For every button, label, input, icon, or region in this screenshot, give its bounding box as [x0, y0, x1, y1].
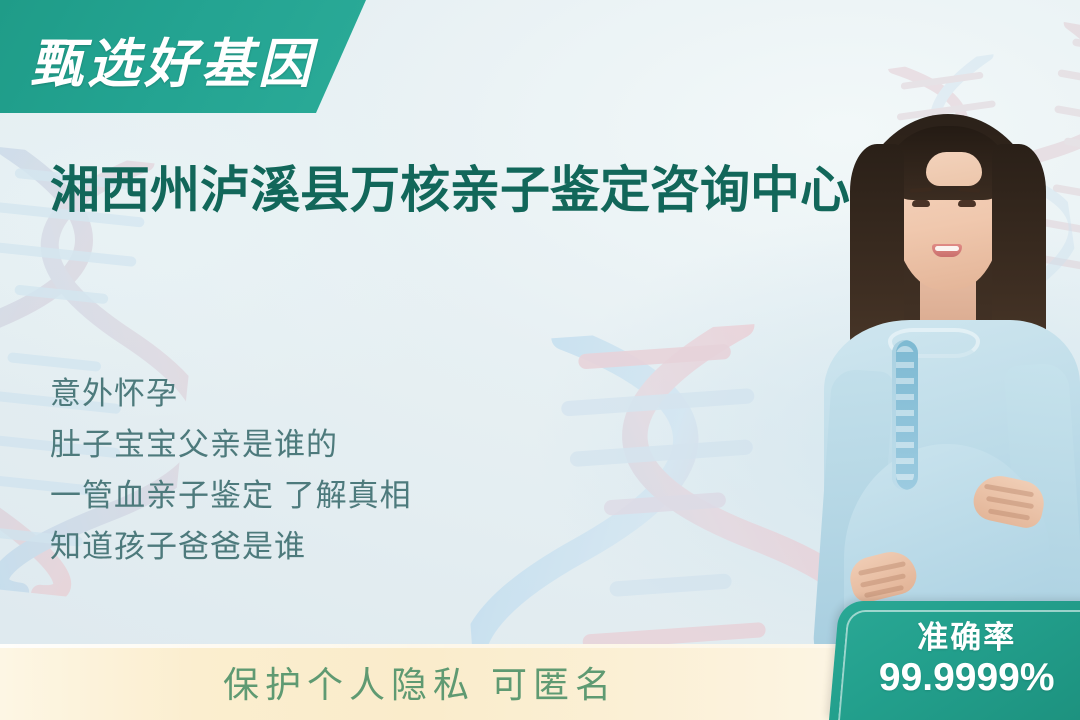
page-title: 湘西州泸溪县万核亲子鉴定咨询中心 — [50, 160, 850, 220]
accuracy-badge: 准确率 99.9999% — [829, 601, 1080, 720]
dna-helix-icon — [838, 47, 1080, 373]
dna-helix-icon — [973, 16, 1080, 374]
copy-line: 知道孩子爸爸是谁 — [50, 521, 610, 572]
badge-content: 准确率 99.9999% — [834, 601, 1080, 720]
privacy-note: 保护个人隐私 可匿名 — [0, 644, 840, 720]
brand-logo-banner[interactable]: 甄选好基因 — [0, 0, 366, 113]
badge-value: 99.9999% — [879, 658, 1055, 699]
marketing-copy: 意外怀孕 肚子宝宝父亲是谁的 一管血亲子鉴定 了解真相 知道孩子爸爸是谁 — [50, 368, 610, 572]
promo-banner: 甄选好基因 湘西州泸溪县万核亲子鉴定咨询中心 意外怀孕 肚子宝宝父亲是谁的 一管… — [0, 0, 1080, 720]
copy-line: 一管血亲子鉴定 了解真相 — [50, 470, 610, 521]
copy-line: 肚子宝宝父亲是谁的 — [50, 419, 610, 470]
badge-label: 准确率 — [917, 622, 1016, 655]
brand-wordmark: 甄选好基因 — [30, 22, 315, 98]
copy-line: 意外怀孕 — [50, 368, 610, 419]
